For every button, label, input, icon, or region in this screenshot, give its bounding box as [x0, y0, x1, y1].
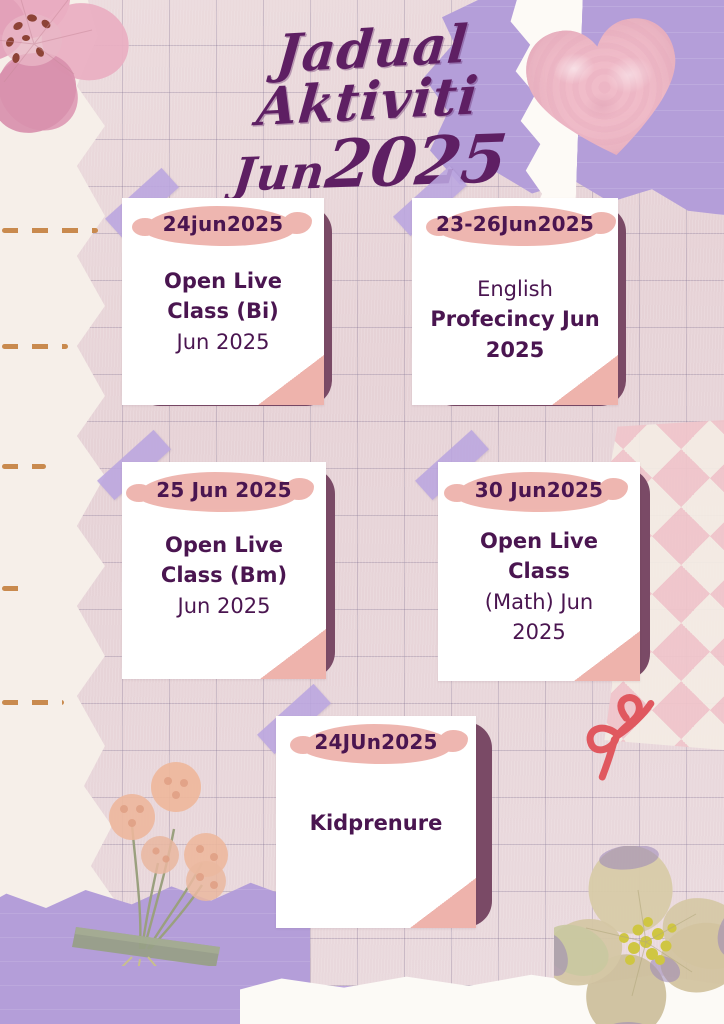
dried-flower-bunch-icon: [70, 751, 255, 966]
card-line: English: [424, 274, 606, 304]
card-title: Open Live Class (Bm) Jun 2025: [122, 530, 326, 621]
sage-ribbon-wrap: [72, 927, 220, 966]
folded-corner: [552, 355, 618, 405]
card-date: 25 Jun 2025: [122, 478, 326, 502]
card-line: Open Live: [450, 526, 628, 556]
folded-corner: [574, 631, 640, 681]
card-line: Class: [450, 556, 628, 586]
card-title: Open Live Class (Math) Jun 2025: [438, 526, 640, 648]
card-line: Kidprenure: [288, 808, 464, 838]
dashed-line: [2, 586, 28, 591]
card-line: Profecincy Jun: [424, 304, 606, 334]
folded-corner: [260, 629, 326, 679]
coral-ribbon-bow-icon: [580, 686, 679, 785]
card-line: Jun 2025: [134, 591, 314, 621]
event-card[interactable]: 30 Jun2025 Open Live Class (Math) Jun 20…: [438, 462, 640, 681]
dashed-line: [2, 700, 64, 705]
card-date: 23-26Jun2025: [412, 212, 618, 236]
event-card[interactable]: 23-26Jun2025 English Profecincy Jun 2025: [412, 198, 618, 405]
card-date: 24jun2025: [122, 212, 324, 236]
folded-corner: [258, 355, 324, 405]
folded-corner: [410, 878, 476, 928]
event-card[interactable]: 24jun2025 Open Live Class (Bi) Jun 2025: [122, 198, 324, 405]
pressed-pink-flower-icon: [0, 0, 164, 152]
card-line: Class (Bi): [134, 296, 312, 326]
card-title: Kidprenure: [276, 808, 476, 838]
card-line: Open Live: [134, 266, 312, 296]
card-title: Open Live Class (Bi) Jun 2025: [122, 266, 324, 357]
card-line: Class (Bm): [134, 560, 314, 590]
card-line: (Math) Jun: [450, 587, 628, 617]
card-date: 30 Jun2025: [438, 478, 640, 502]
dashed-line: [2, 228, 98, 233]
card-title: English Profecincy Jun 2025: [412, 274, 618, 365]
card-line: Jun 2025: [134, 327, 312, 357]
pressed-purple-flower-icon: [554, 846, 724, 1024]
poster-canvas: Jadual Aktiviti Jun2025 24jun2025 Open L…: [0, 0, 724, 1024]
event-card[interactable]: 24JUn2025 Kidprenure: [276, 716, 476, 928]
card-date: 24JUn2025: [276, 730, 476, 754]
dashed-line: [2, 464, 46, 469]
event-card[interactable]: 25 Jun 2025 Open Live Class (Bm) Jun 202…: [122, 462, 326, 679]
card-line: Open Live: [134, 530, 314, 560]
dashed-line: [2, 344, 68, 349]
